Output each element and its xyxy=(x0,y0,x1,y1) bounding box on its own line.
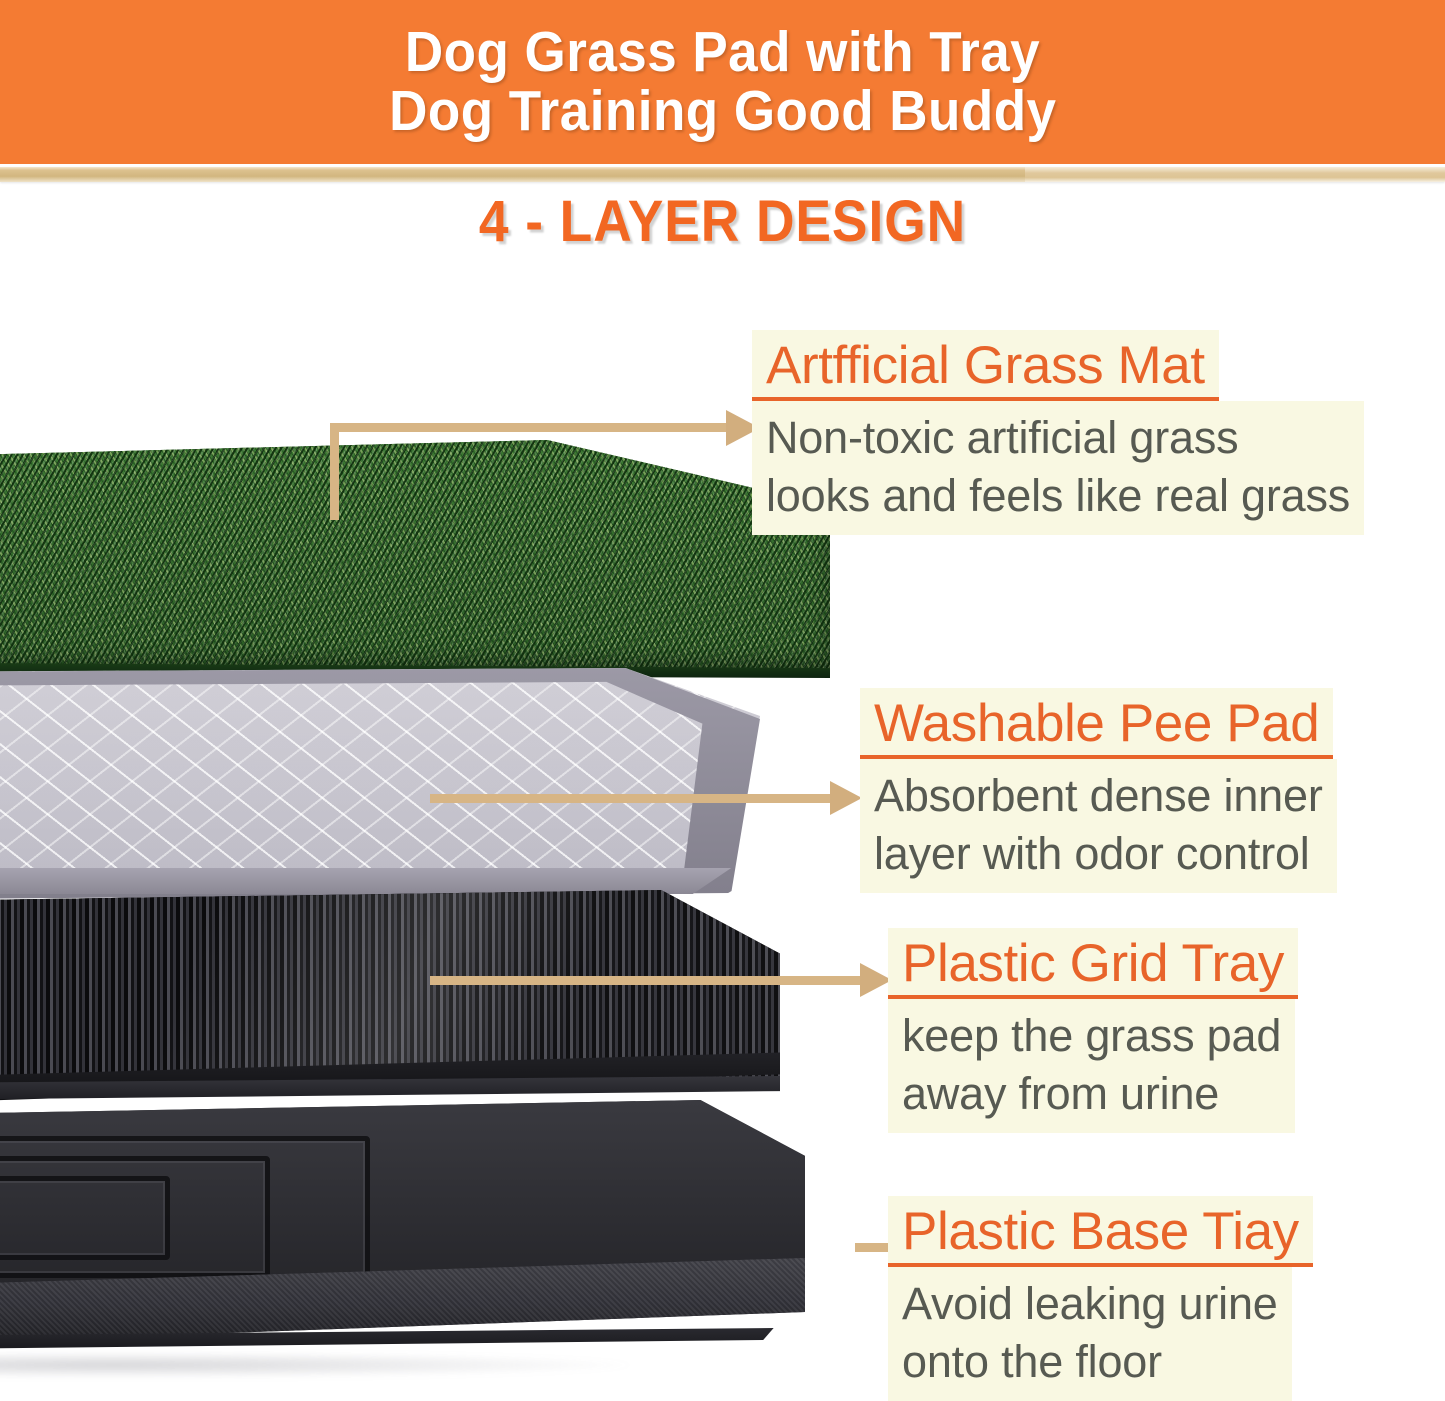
arrow-vertical-segment xyxy=(330,423,339,520)
section-subtitle: 4 - LAYER DESIGN xyxy=(58,188,1387,255)
callout-title: Artfficial Grass Mat xyxy=(752,330,1219,401)
base-tray-ridge-inner xyxy=(0,1176,170,1260)
callout-plastic-grid-tray: Plastic Grid Tray keep the grass pad awa… xyxy=(888,928,1445,1133)
callout-title: Plastic Grid Tray xyxy=(888,928,1298,999)
arrow-shaft xyxy=(430,794,835,803)
arrow-head-icon xyxy=(830,781,862,815)
callout-description: Absorbent dense inner layer with odor co… xyxy=(860,759,1337,892)
callout-washable-pee-pad: Washable Pee Pad Absorbent dense inner l… xyxy=(860,688,1445,893)
callout-arrow-pee-pad xyxy=(430,781,865,815)
arrow-horizontal-segment xyxy=(330,423,730,432)
layer-image-plastic-base-tray xyxy=(0,1100,805,1400)
header-title-line-2: Dog Training Good Buddy xyxy=(389,82,1056,141)
pee-pad-quilted-surface xyxy=(0,668,760,886)
header-title-line-1: Dog Grass Pad with Tray xyxy=(405,23,1040,82)
header-banner: Dog Grass Pad with Tray Dog Training Goo… xyxy=(0,0,1445,164)
callout-description: keep the grass pad away from urine xyxy=(888,999,1295,1132)
callout-arrow-grid-tray xyxy=(430,963,895,997)
header-accent-strip xyxy=(0,167,1445,182)
callout-title: Washable Pee Pad xyxy=(860,688,1333,759)
callout-description: Avoid leaking urine onto the floor xyxy=(888,1267,1292,1400)
callout-description: Non-toxic artificial grass looks and fee… xyxy=(752,401,1364,534)
base-tray-drop-shadow xyxy=(0,1352,630,1378)
arrow-shaft xyxy=(430,976,865,985)
callout-artificial-grass-mat: Artfficial Grass Mat Non-toxic artificia… xyxy=(752,330,1445,535)
callout-arrow-grass-mat xyxy=(330,415,760,520)
callout-plastic-base-tray: Plastic Base Tiay Avoid leaking urine on… xyxy=(888,1196,1445,1401)
callout-title: Plastic Base Tiay xyxy=(888,1196,1313,1267)
product-infographic: Dog Grass Pad with Tray Dog Training Goo… xyxy=(0,0,1445,1389)
